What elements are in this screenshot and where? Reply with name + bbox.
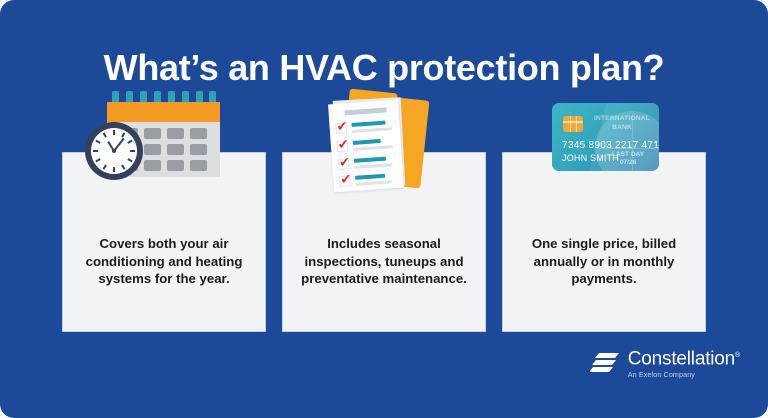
card-inspections: ✔ ✔ ✔ ✔ [282, 152, 486, 332]
credit-card-icon: INTERNATIONAL BANK 7345 8903 2217 4713 J… [503, 85, 707, 195]
card-text: One single price, billed annually or in … [513, 235, 695, 288]
folder-body [351, 94, 430, 189]
calendar-grid [107, 122, 220, 177]
calendar-clock-icon [63, 85, 267, 195]
card-holder-name: JOHN SMITH [562, 153, 619, 163]
card-pricing: INTERNATIONAL BANK 7345 8903 2217 4713 J… [502, 152, 706, 332]
card-number: 7345 8903 2217 4713 [562, 140, 659, 151]
card-text: Includes seasonal inspections, tuneups a… [293, 235, 475, 288]
folder-tab [348, 89, 397, 110]
paper-sheet-front: ✔ ✔ ✔ ✔ [328, 100, 404, 193]
card-bank-name: INTERNATIONAL BANK [593, 115, 651, 132]
checklist-documents-icon: ✔ ✔ ✔ ✔ [283, 85, 487, 195]
card-coverage: Covers both your air conditioning and he… [62, 152, 266, 332]
logo-name: Constellation [628, 346, 740, 369]
card-text: Covers both your air conditioning and he… [73, 235, 255, 288]
check-icon: ✔ [339, 157, 350, 170]
check-icon: ✔ [340, 174, 351, 187]
chip-icon [563, 116, 583, 132]
paper-sheet-back [333, 97, 406, 188]
stacked-stripes-icon [590, 351, 620, 375]
card-expiry: LAST DAY 07/26 [607, 151, 649, 167]
clock-icon [85, 122, 143, 180]
constellation-logo: Constellation An Exelon Company [590, 346, 740, 380]
calendar-header-bar [107, 102, 220, 122]
page-title: What’s an HVAC protection plan? [0, 46, 768, 90]
cards-row: Covers both your air conditioning and he… [62, 152, 706, 332]
card-expiry-date: 07/26 [607, 159, 649, 167]
infographic-panel: What’s an HVAC protection plan? [0, 0, 768, 418]
check-icon: ✔ [336, 121, 347, 134]
calendar-rings [112, 91, 216, 107]
globe-icon [595, 111, 659, 171]
check-icon: ✔ [338, 139, 349, 152]
logo-tagline: An Exelon Company [628, 370, 740, 380]
card-expiry-label: LAST DAY [607, 151, 649, 159]
